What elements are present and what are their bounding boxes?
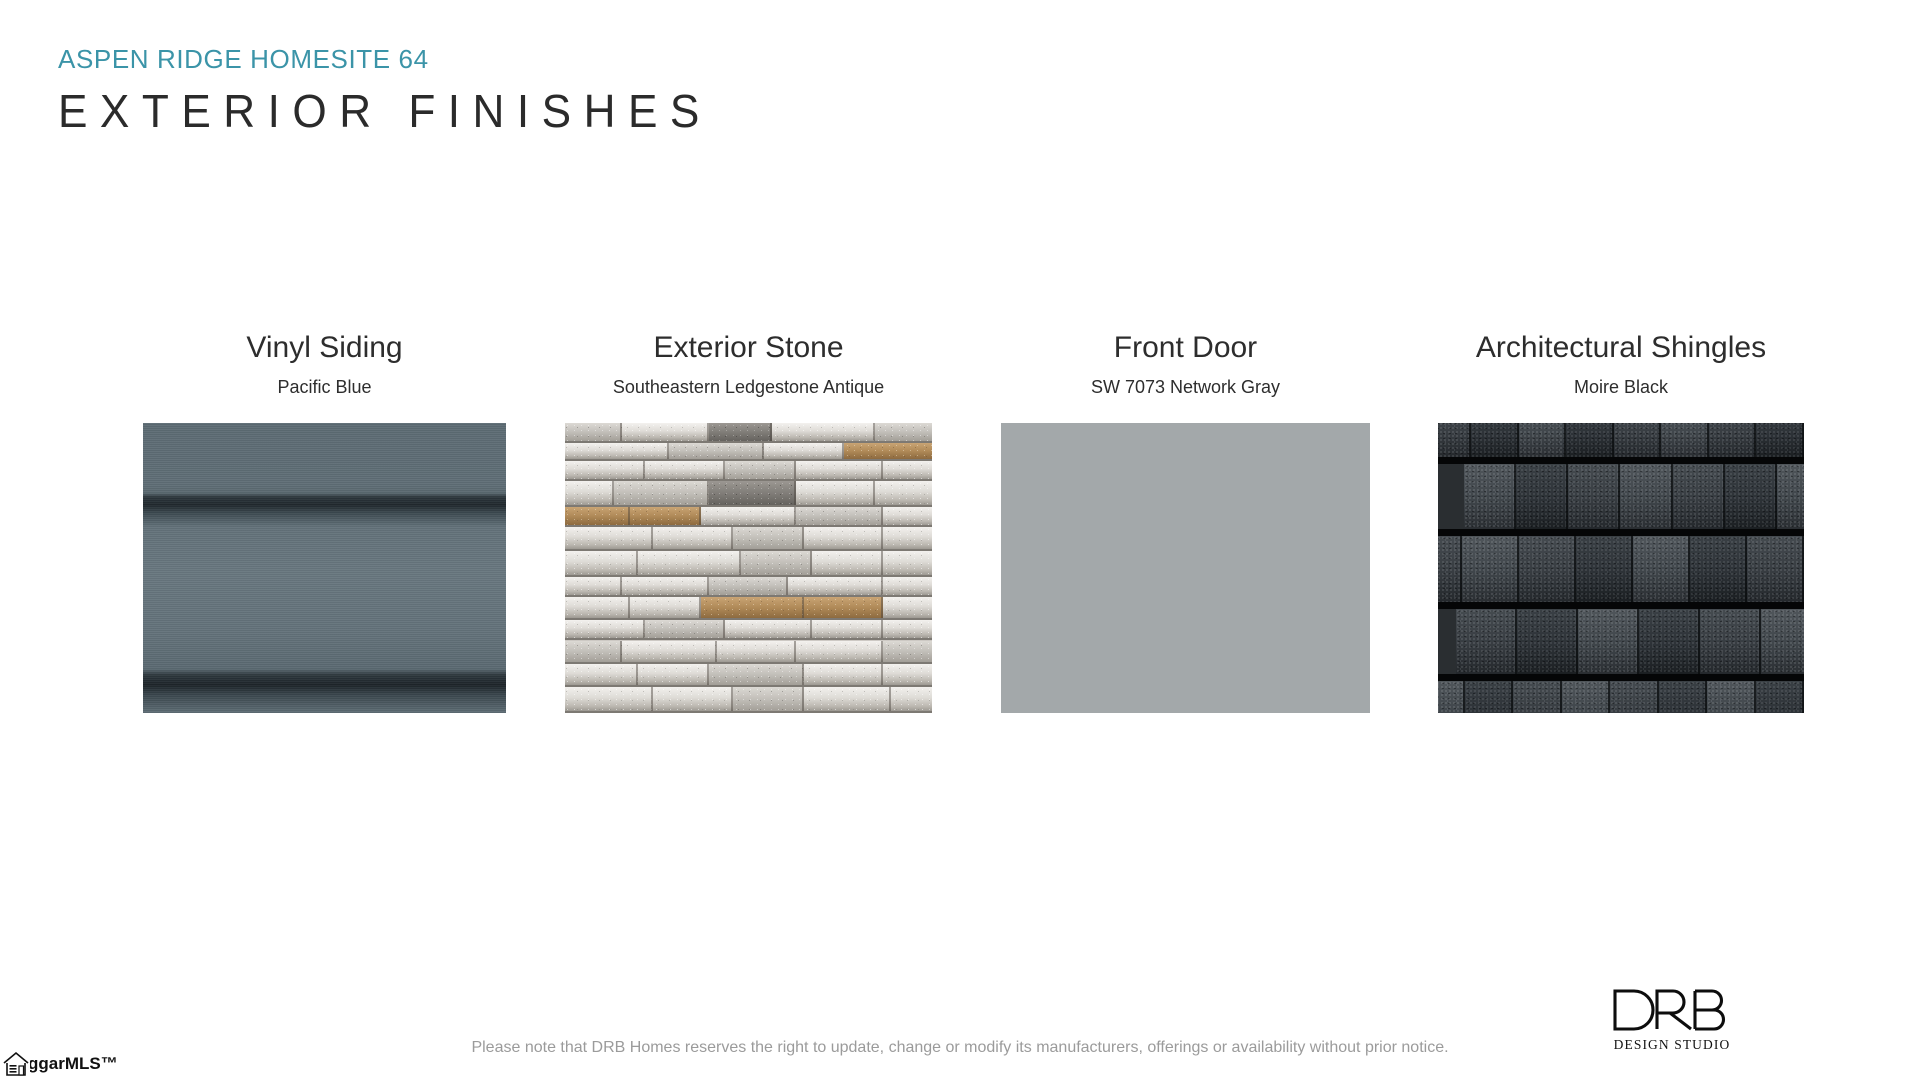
page-title: EXTERIOR FINISHES	[58, 84, 922, 138]
finishes-row: Vinyl Siding Pacific Blue Exterior Stone…	[0, 330, 1920, 750]
finish-card-front-door: Front Door SW 7073 Network Gray	[1001, 330, 1370, 713]
drb-design-studio-logo: DESIGN STUDIO	[1612, 988, 1732, 1052]
finish-spec: Pacific Blue	[143, 376, 506, 398]
mls-watermark-label: ggarMLS™	[28, 1054, 118, 1074]
finish-name: Architectural Shingles	[1438, 330, 1804, 366]
community-homesite-label: ASPEN RIDGE HOMESITE 64	[58, 44, 958, 74]
swatch-architectural-shingles	[1438, 423, 1804, 713]
finish-name: Vinyl Siding	[143, 330, 506, 366]
swatch-exterior-stone	[565, 423, 932, 713]
drb-wordmark-icon	[1612, 988, 1732, 1034]
finish-name: Front Door	[1001, 330, 1370, 366]
page-header: ASPEN RIDGE HOMESITE 64 EXTERIOR FINISHE…	[58, 44, 958, 138]
finish-card-architectural-shingles: Architectural Shingles Moire Black	[1438, 330, 1804, 713]
stone-texture	[565, 423, 932, 713]
mls-watermark: ggarMLS™	[2, 1050, 98, 1080]
finish-spec: SW 7073 Network Gray	[1001, 376, 1370, 398]
finish-card-exterior-stone: Exterior Stone Southeastern Ledgestone A…	[565, 330, 932, 713]
finish-spec: Moire Black	[1438, 376, 1804, 398]
drb-logo-subtitle: DESIGN STUDIO	[1612, 1037, 1732, 1052]
finish-name: Exterior Stone	[565, 330, 932, 366]
finish-spec: Southeastern Ledgestone Antique	[565, 376, 932, 398]
swatch-vinyl-siding	[143, 423, 506, 713]
house-icon	[2, 1050, 30, 1078]
shingle-texture	[1438, 423, 1804, 713]
finish-card-vinyl-siding: Vinyl Siding Pacific Blue	[143, 330, 506, 713]
swatch-front-door	[1001, 423, 1370, 713]
